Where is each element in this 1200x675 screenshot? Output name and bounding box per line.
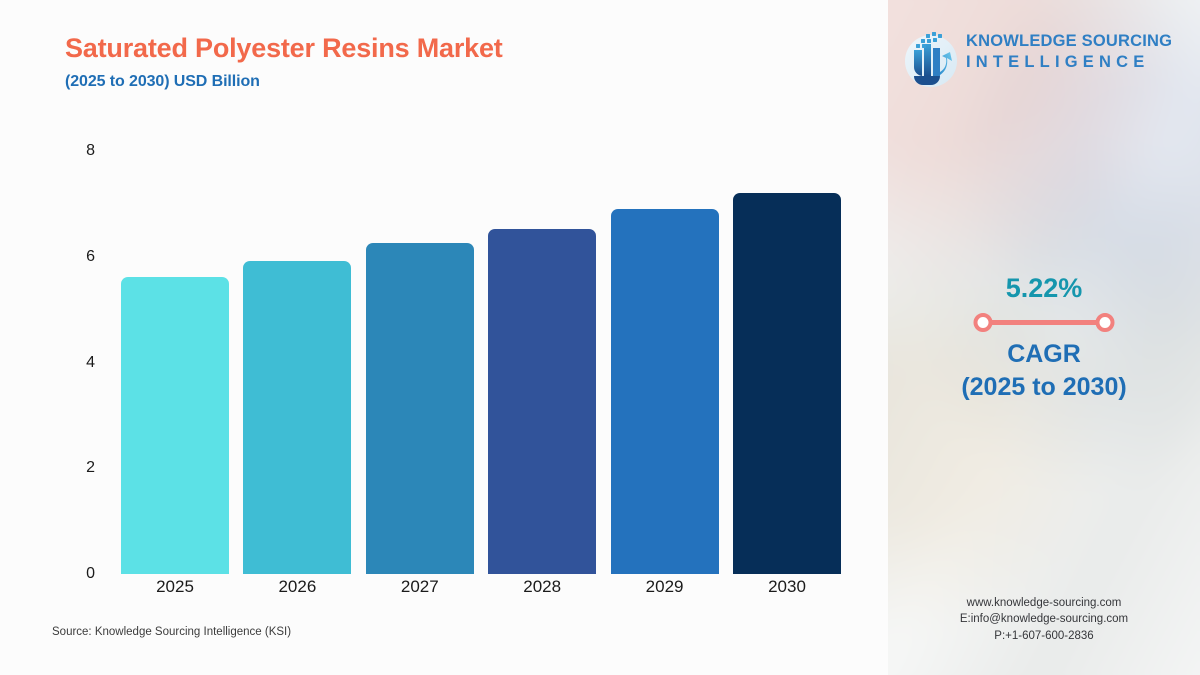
source-note: Source: Knowledge Sourcing Intelligence …: [52, 626, 291, 638]
brand-line-2: INTELLIGENCE: [966, 52, 1172, 73]
x-axis-label-2025: 2025: [121, 578, 229, 595]
x-axis-label-2027: 2027: [366, 578, 474, 595]
cagr-line: [983, 320, 1105, 325]
contact-email[interactable]: E:info@knowledge-sourcing.com: [888, 611, 1200, 627]
bar-2028: [488, 229, 596, 574]
cagr-value: 5.22%: [888, 274, 1200, 304]
bar-chart-plot: 86420 202520262027202820292030: [0, 0, 888, 675]
knowledge-sourcing-logo-icon: [900, 28, 962, 90]
bar-2026: [243, 261, 351, 574]
y-axis-tick: 8: [53, 143, 95, 159]
y-axis-tick: 6: [53, 249, 95, 265]
bar-2030: [733, 193, 841, 574]
cagr-period: (2025 to 2030): [888, 371, 1200, 405]
y-axis-tick: 0: [53, 566, 95, 582]
y-axis-tick: 2: [53, 460, 95, 476]
brand-wordmark: KNOWLEDGE SOURCING INTELLIGENCE: [966, 31, 1172, 73]
chart-panel: Saturated Polyester Resins Market (2025 …: [0, 0, 888, 675]
brand-logo: KNOWLEDGE SOURCING INTELLIGENCE: [900, 28, 1192, 90]
cagr-connector-icon: [888, 304, 1200, 338]
bar-2025: [121, 277, 229, 574]
infographic-page: Saturated Polyester Resins Market (2025 …: [0, 0, 1200, 675]
cagr-block: 5.22% CAGR (2025 to 2030): [888, 274, 1200, 405]
contact-phone: P:+1-607-600-2836: [888, 628, 1200, 644]
cagr-label: CAGR: [888, 338, 1200, 372]
contact-info: www.knowledge-sourcing.com E:info@knowle…: [888, 595, 1200, 644]
brand-panel: KNOWLEDGE SOURCING INTELLIGENCE 5.22% CA…: [888, 0, 1200, 675]
cagr-endpoint-left-icon: [974, 313, 993, 332]
cagr-endpoint-right-icon: [1096, 313, 1115, 332]
x-axis-label-2029: 2029: [611, 578, 719, 595]
x-axis-label-2030: 2030: [733, 578, 841, 595]
x-axis-label-2028: 2028: [488, 578, 596, 595]
bar-2029: [611, 209, 719, 574]
y-axis-tick: 4: [53, 355, 95, 371]
contact-website[interactable]: www.knowledge-sourcing.com: [888, 595, 1200, 611]
brand-line-1: KNOWLEDGE SOURCING: [966, 31, 1172, 52]
x-axis-label-2026: 2026: [243, 578, 351, 595]
bar-2027: [366, 243, 474, 574]
